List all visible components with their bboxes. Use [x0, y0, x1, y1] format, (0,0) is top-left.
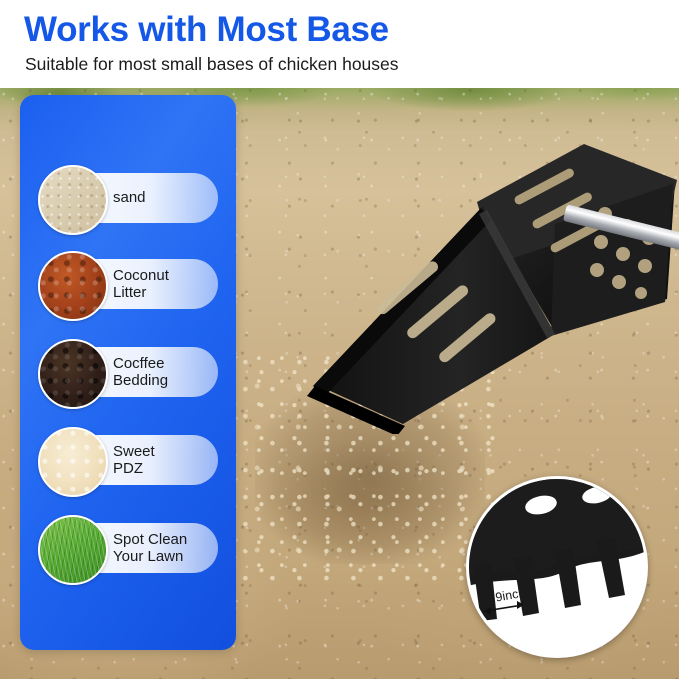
page-title: Works with Most Base	[24, 10, 389, 50]
sweet-pdz-label-line2: PDZ	[113, 460, 143, 477]
coconut-litter-label-line2: Litter	[113, 284, 146, 301]
coffee-bedding-label-line2: Bedding	[113, 372, 168, 389]
sand-swatch-icon	[38, 165, 108, 235]
spot-clean-label-line1: Spot Clean	[113, 531, 187, 548]
coconut-litter-swatch-icon	[38, 251, 108, 321]
lawn-swatch-icon	[38, 515, 108, 585]
coop-scoop	[255, 94, 679, 434]
coffee-bedding-label: Cocffee Bedding	[113, 335, 223, 409]
list-item-sweet-pdz: Sweet PDZ	[38, 423, 218, 497]
list-item-sand: sand	[38, 161, 218, 235]
sweet-pdz-swatch-icon	[38, 427, 108, 497]
sweet-pdz-label: Sweet PDZ	[113, 423, 223, 497]
coconut-litter-label: Coconut Litter	[113, 247, 223, 321]
magnifier-callout: 0.9inch	[466, 476, 648, 658]
list-item-spot-clean-your-lawn: Spot Clean Your Lawn	[38, 511, 218, 585]
list-item-coffee-bedding: Cocffee Bedding	[38, 335, 218, 409]
list-item-coconut-litter: Coconut Litter	[38, 247, 218, 321]
coconut-litter-label-line1: Coconut	[113, 267, 169, 284]
sand-label: sand	[113, 161, 223, 235]
product-infographic: 0.9inch Works with Most Base Suitable fo…	[0, 0, 679, 679]
sweet-pdz-label-line1: Sweet	[113, 443, 155, 460]
coffee-bedding-label-line1: Cocffee	[113, 355, 164, 372]
magnifier-content	[469, 479, 645, 655]
page-subtitle: Suitable for most small bases of chicken…	[25, 54, 399, 75]
spot-clean-your-lawn-label: Spot Clean Your Lawn	[113, 511, 223, 585]
header: Works with Most Base Suitable for most s…	[0, 0, 679, 88]
spot-clean-label-line2: Your Lawn	[113, 548, 183, 565]
base-materials-panel: sand Coconut Litter Cocffee Bedding	[20, 95, 236, 650]
coffee-bedding-swatch-icon	[38, 339, 108, 409]
